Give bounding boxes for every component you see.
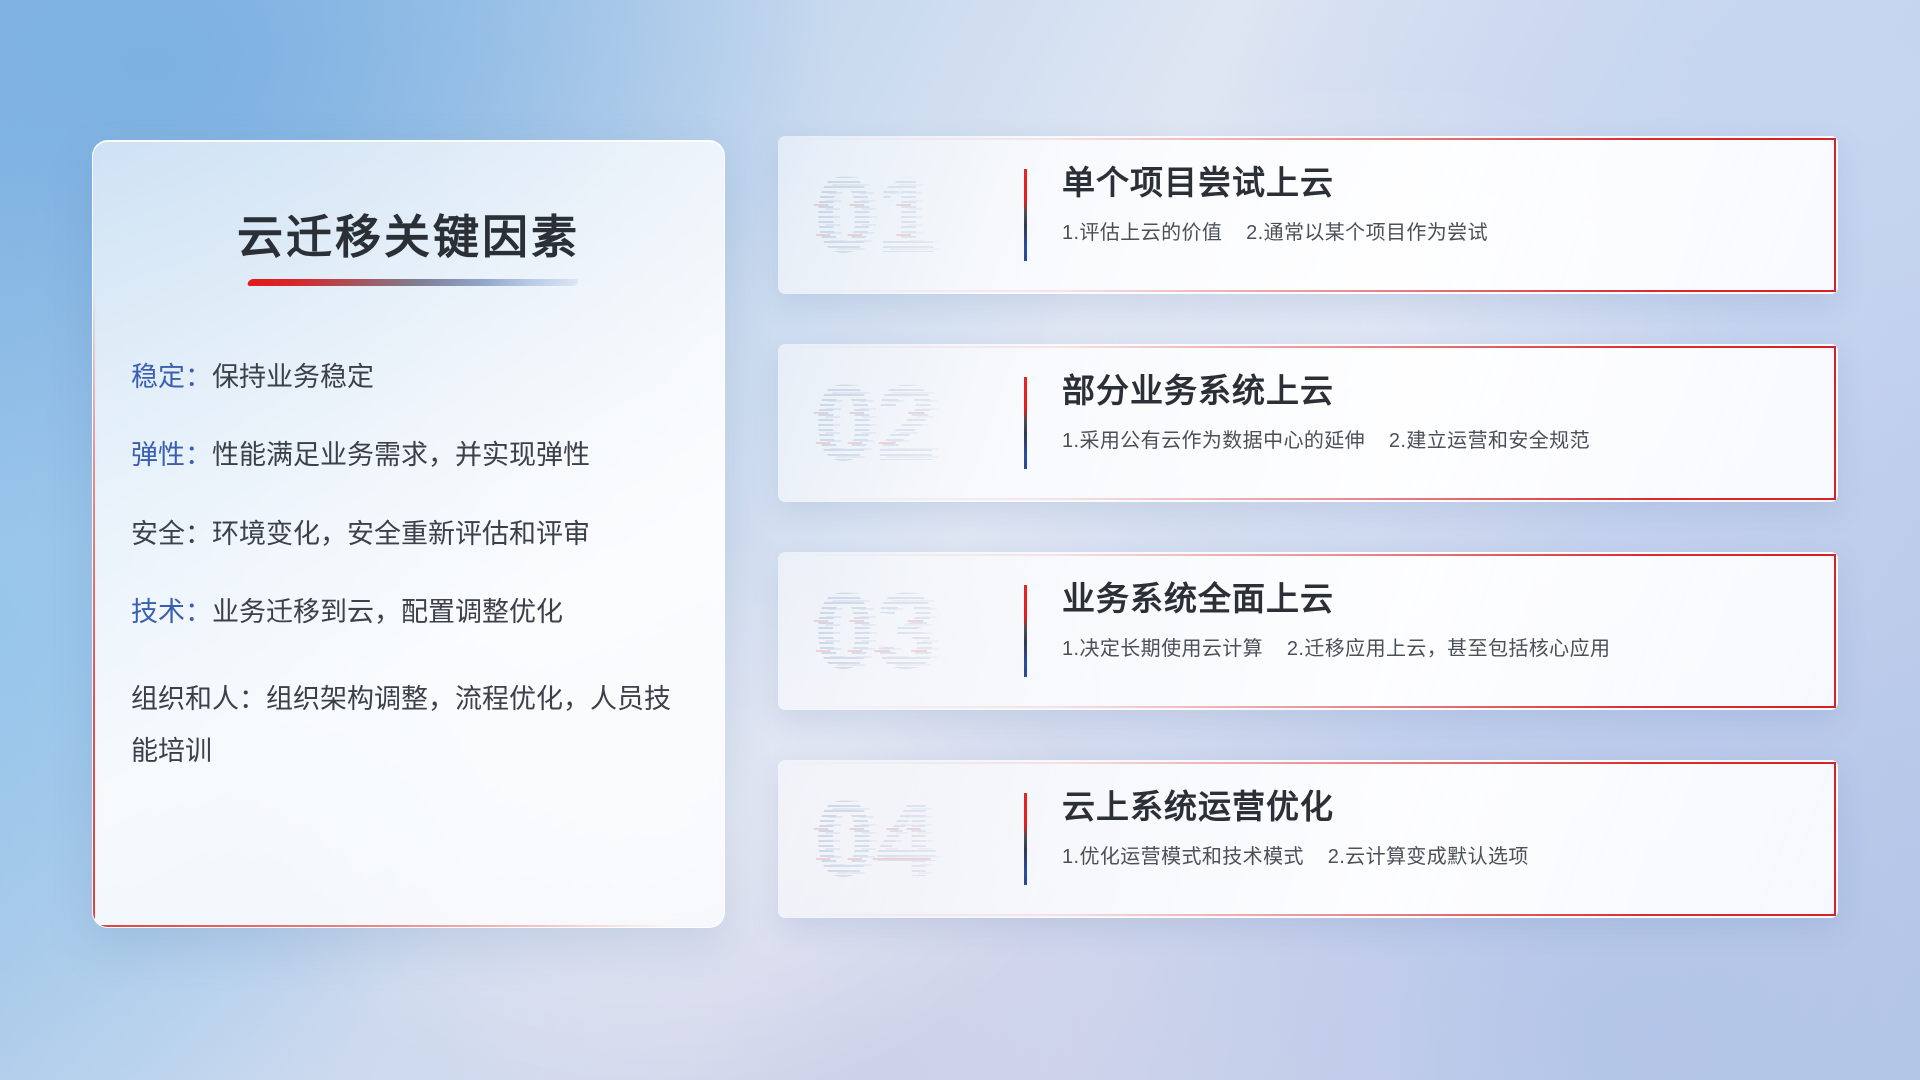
step-title: 业务系统全面上云 bbox=[1062, 578, 1798, 619]
list-item: 技术：业务迁移到云，配置调整优化 bbox=[131, 594, 696, 630]
step-accent-bar bbox=[1024, 169, 1027, 261]
step-title: 部分业务系统上云 bbox=[1062, 370, 1798, 411]
card-border-top bbox=[780, 554, 1836, 556]
card-border-top bbox=[780, 762, 1836, 764]
step-number-glitch: 03 03 03 bbox=[814, 562, 984, 700]
card-border-bottom bbox=[780, 914, 1836, 916]
list-item-text: 业务迁移到云，配置调整优化 bbox=[212, 597, 563, 627]
step-content: 部分业务系统上云 1.采用公有云作为数据中心的延伸 2.建立运营和安全规范 bbox=[1062, 370, 1798, 453]
step-subtitle: 1.采用公有云作为数据中心的延伸 2.建立运营和安全规范 bbox=[1062, 424, 1798, 453]
list-item-key: 组织和人： bbox=[131, 684, 266, 714]
slide-stage: 云迁移关键因素 稳定：保持业务稳定 弹性：性能满足业务需求，并实现弹性 安全：环… bbox=[0, 0, 1920, 1080]
card-border-bottom bbox=[780, 706, 1836, 708]
list-item: 弹性：性能满足业务需求，并实现弹性 bbox=[131, 437, 696, 473]
card-border-bottom bbox=[780, 498, 1836, 500]
list-item: 组织和人：组织架构调整，流程优化，人员技能培训 bbox=[131, 673, 696, 778]
list-item-text: 环境变化，安全重新评估和评审 bbox=[212, 519, 590, 549]
step-content: 单个项目尝试上云 1.评估上云的价值 2.通常以某个项目作为尝试 bbox=[1062, 162, 1798, 245]
step-subtitle: 1.决定长期使用云计算 2.迁移应用上云，甚至包括核心应用 bbox=[1062, 632, 1798, 661]
step-card-01[interactable]: 01 01 01 单个项目尝试上云 1.评估上云的价值 2.通常以某个项目作为尝… bbox=[778, 136, 1838, 294]
card-border-bottom bbox=[780, 290, 1836, 292]
key-factors-card: 云迁移关键因素 稳定：保持业务稳定 弹性：性能满足业务需求，并实现弹性 安全：环… bbox=[92, 140, 725, 928]
card-border-right bbox=[1834, 762, 1836, 916]
step-content: 业务系统全面上云 1.决定长期使用云计算 2.迁移应用上云，甚至包括核心应用 bbox=[1062, 578, 1798, 661]
step-content: 云上系统运营优化 1.优化运营模式和技术模式 2.云计算变成默认选项 bbox=[1062, 786, 1798, 869]
card-border-top bbox=[780, 346, 1836, 348]
step-number-glitch: 04 04 04 bbox=[814, 770, 984, 908]
step-card-04[interactable]: 04 04 04 云上系统运营优化 1.优化运营模式和技术模式 2.云计算变成默… bbox=[778, 760, 1838, 918]
list-item-key: 稳定： bbox=[131, 362, 212, 392]
step-card-03[interactable]: 03 03 03 业务系统全面上云 1.决定长期使用云计算 2.迁移应用上云，甚… bbox=[778, 552, 1838, 710]
list-item: 安全：环境变化，安全重新评估和评审 bbox=[131, 516, 696, 552]
list-item: 稳定：保持业务稳定 bbox=[131, 359, 696, 395]
key-factors-list: 稳定：保持业务稳定 弹性：性能满足业务需求，并实现弹性 安全：环境变化，安全重新… bbox=[131, 359, 696, 778]
step-card-02[interactable]: 02 02 02 部分业务系统上云 1.采用公有云作为数据中心的延伸 2.建立运… bbox=[778, 344, 1838, 502]
step-number-red-scanline: 01 bbox=[809, 146, 933, 284]
step-accent-bar bbox=[1024, 585, 1027, 677]
card-border-top bbox=[780, 138, 1836, 140]
list-item-key: 安全： bbox=[131, 519, 212, 549]
migration-steps-list: 01 01 01 单个项目尝试上云 1.评估上云的价值 2.通常以某个项目作为尝… bbox=[778, 136, 1838, 968]
step-subtitle: 1.优化运营模式和技术模式 2.云计算变成默认选项 bbox=[1062, 840, 1798, 869]
step-title: 单个项目尝试上云 bbox=[1062, 162, 1798, 203]
step-title: 云上系统运营优化 bbox=[1062, 786, 1798, 827]
card-border-right bbox=[1834, 138, 1836, 292]
card-bottom-accent-edge bbox=[93, 925, 724, 927]
list-item-key: 弹性： bbox=[131, 440, 212, 470]
step-number-glitch: 01 01 01 bbox=[814, 146, 984, 284]
step-number-glitch: 02 02 02 bbox=[814, 354, 984, 492]
step-accent-bar bbox=[1024, 377, 1027, 469]
step-number-red-scanline: 03 bbox=[809, 562, 933, 700]
step-subtitle: 1.评估上云的价值 2.通常以某个项目作为尝试 bbox=[1062, 216, 1798, 245]
list-item-key: 技术： bbox=[131, 597, 212, 627]
list-item-text: 性能满足业务需求，并实现弹性 bbox=[212, 440, 590, 470]
page-title: 云迁移关键因素 bbox=[93, 201, 724, 267]
step-number-red-scanline: 02 bbox=[809, 354, 933, 492]
title-underline-rule bbox=[246, 279, 579, 286]
card-border-right bbox=[1834, 346, 1836, 500]
list-item-text: 保持业务稳定 bbox=[212, 362, 374, 392]
card-border-right bbox=[1834, 554, 1836, 708]
step-accent-bar bbox=[1024, 793, 1027, 885]
step-number-red-scanline: 04 bbox=[809, 770, 933, 908]
